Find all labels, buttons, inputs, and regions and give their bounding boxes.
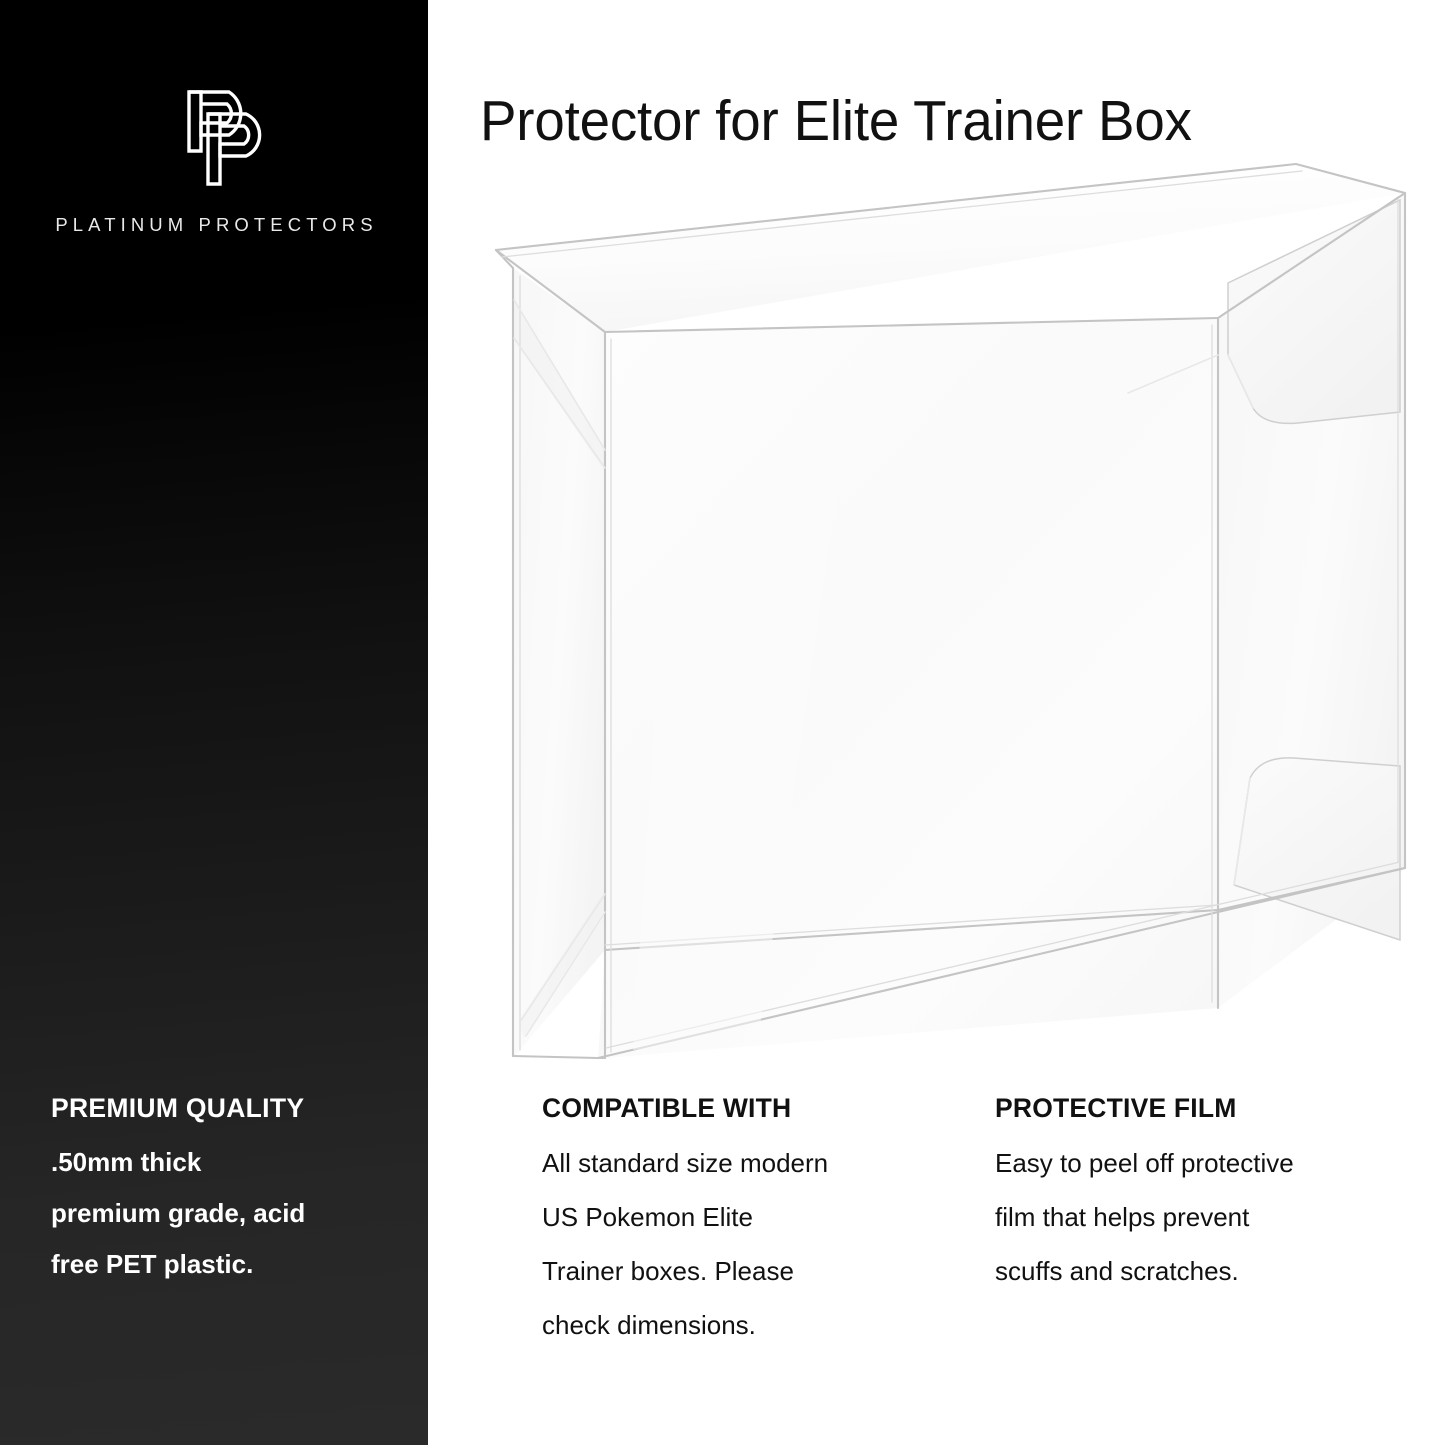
- feature-line: All standard size modern: [542, 1150, 962, 1176]
- feature-line: check dimensions.: [542, 1312, 962, 1338]
- feature-heading-premium-quality: PREMIUM QUALITY: [51, 1093, 401, 1124]
- feature-line: Easy to peel off protective: [995, 1150, 1415, 1176]
- feature-premium-quality: PREMIUM QUALITY .50mm thick premium grad…: [51, 1093, 401, 1277]
- feature-body-protective-film: Easy to peel off protective film that he…: [995, 1150, 1415, 1284]
- feature-line: scuffs and scratches.: [995, 1258, 1415, 1284]
- page-title: Protector for Elite Trainer Box: [480, 88, 1192, 154]
- feature-body-compatible-with: All standard size modern US Pokemon Elit…: [542, 1150, 962, 1338]
- feature-compatible-with: COMPATIBLE WITH All standard size modern…: [542, 1093, 962, 1338]
- feature-line: .50mm thick: [51, 1149, 401, 1175]
- feature-line: film that helps prevent: [995, 1204, 1415, 1230]
- brand-wordmark: PLATINUM PROTECTORS: [0, 214, 428, 236]
- brand-panel: PLATINUM PROTECTORS PREMIUM QUALITY .50m…: [0, 0, 428, 1445]
- feature-line: Trainer boxes. Please: [542, 1258, 962, 1284]
- feature-line: US Pokemon Elite: [542, 1204, 962, 1230]
- feature-heading-protective-film: PROTECTIVE FILM: [995, 1093, 1415, 1124]
- feature-protective-film: PROTECTIVE FILM Easy to peel off protect…: [995, 1093, 1415, 1284]
- feature-line: premium grade, acid: [51, 1200, 401, 1226]
- feature-line: free PET plastic.: [51, 1251, 401, 1277]
- feature-heading-compatible-with: COMPATIBLE WITH: [542, 1093, 962, 1124]
- box-flap-top-right: [1228, 200, 1400, 423]
- double-p-monogram-icon: [168, 78, 278, 194]
- product-infographic: PLATINUM PROTECTORS PREMIUM QUALITY .50m…: [0, 0, 1445, 1445]
- product-image: [428, 150, 1445, 1110]
- feature-body-premium-quality: .50mm thick premium grade, acid free PET…: [51, 1149, 401, 1277]
